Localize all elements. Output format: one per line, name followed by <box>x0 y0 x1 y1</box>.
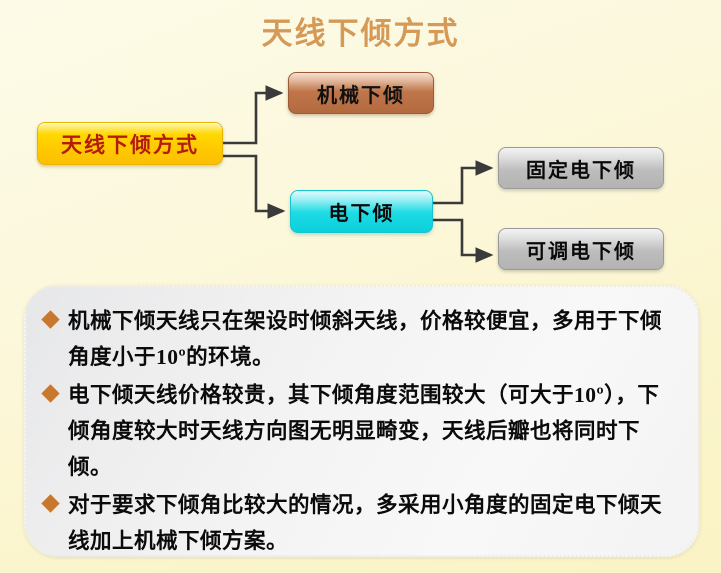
diagram-node-mechanical-tilt[interactable]: 机械下倾 <box>288 72 434 114</box>
diagram-node-root[interactable]: 天线下倾方式 <box>37 122 223 165</box>
diagram-node-electrical-tilt[interactable]: 电下倾 <box>290 190 433 233</box>
bullet-list: 机械下倾天线只在架设时倾斜天线，价格较便宜，多用于下倾角度小于10º的环境。 电… <box>44 303 676 559</box>
bullet-text: 对于要求下倾角比较大的情况，多采用小角度的固定电下倾天线加上机械下倾方案。 <box>68 487 676 559</box>
diamond-bullet-icon <box>41 494 59 512</box>
notes-panel: 机械下倾天线只在架设时倾斜天线，价格较便宜，多用于下倾角度小于10º的环境。 电… <box>24 285 700 557</box>
list-item: 对于要求下倾角比较大的情况，多采用小角度的固定电下倾天线加上机械下倾方案。 <box>44 487 676 559</box>
diamond-bullet-icon <box>41 310 59 328</box>
antenna-tilt-diagram: 天线下倾方式 机械下倾 电下倾 固定电下倾 可调电下倾 <box>0 60 721 285</box>
list-item: 机械下倾天线只在架设时倾斜天线，价格较便宜，多用于下倾角度小于10º的环境。 <box>44 303 676 375</box>
diagram-node-fixed-electrical-tilt[interactable]: 固定电下倾 <box>498 147 664 189</box>
diamond-bullet-icon <box>41 384 59 402</box>
bullet-text: 机械下倾天线只在架设时倾斜天线，价格较便宜，多用于下倾角度小于10º的环境。 <box>68 303 676 375</box>
list-item: 电下倾天线价格较贵，其下倾角度范围较大（可大于10º），下倾角度较大时天线方向图… <box>44 377 676 485</box>
diagram-node-adjustable-electrical-tilt[interactable]: 可调电下倾 <box>498 228 664 270</box>
page-title: 天线下倾方式 <box>0 8 721 53</box>
bullet-text: 电下倾天线价格较贵，其下倾角度范围较大（可大于10º），下倾角度较大时天线方向图… <box>68 377 676 485</box>
